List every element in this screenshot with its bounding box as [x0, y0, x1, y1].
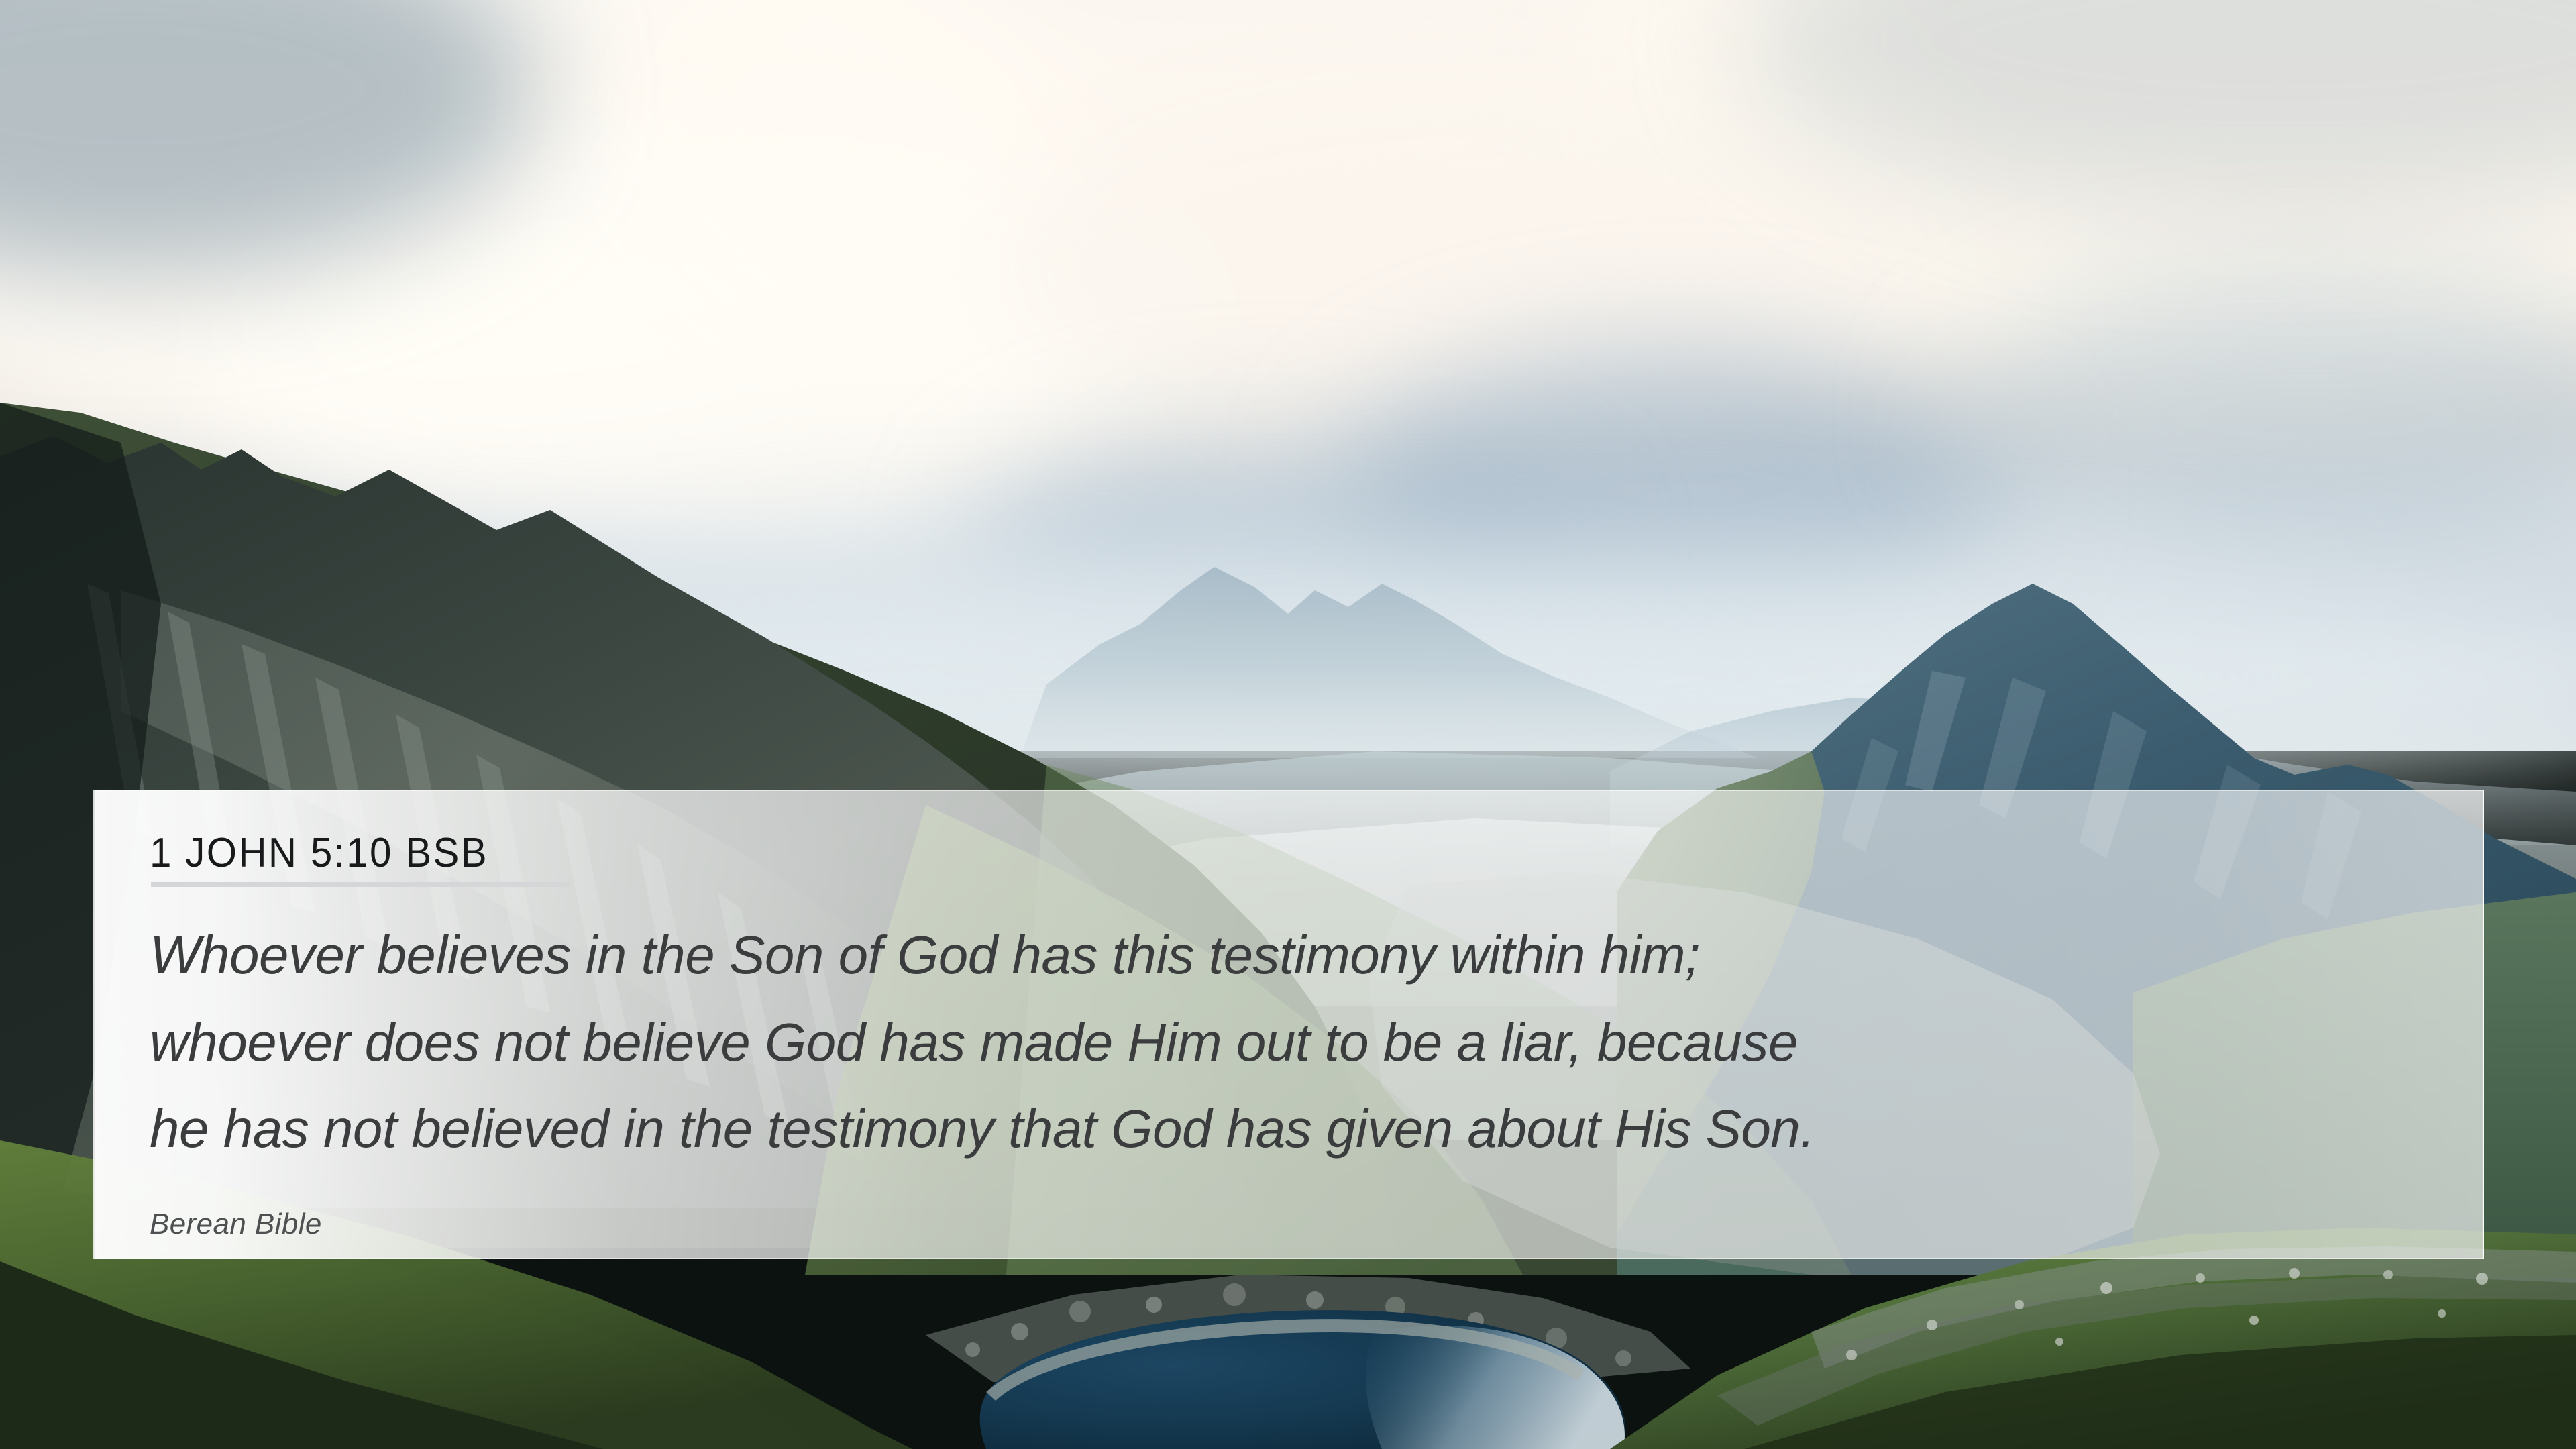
verse-line-2: whoever does not believe God has made Hi… — [150, 999, 2422, 1086]
verse-line-3: he has not believed in the testimony tha… — [150, 1085, 2422, 1173]
verse-quote-panel: 1 John 5:10 BSB Whoever believes in the … — [93, 790, 2484, 1259]
verse-attribution: Berean Bible — [150, 1207, 2422, 1241]
wallpaper-scene: 1 John 5:10 BSB Whoever believes in the … — [0, 0, 2576, 1449]
verse-line-1: Whoever believes in the Son of God has t… — [150, 912, 2422, 999]
verse-text: Whoever believes in the Son of God has t… — [150, 912, 2422, 1173]
verse-reference: 1 John 5:10 BSB — [150, 833, 488, 874]
verse-reference-line: 1 John 5:10 BSB — [150, 833, 510, 874]
reference-underline — [151, 882, 570, 887]
